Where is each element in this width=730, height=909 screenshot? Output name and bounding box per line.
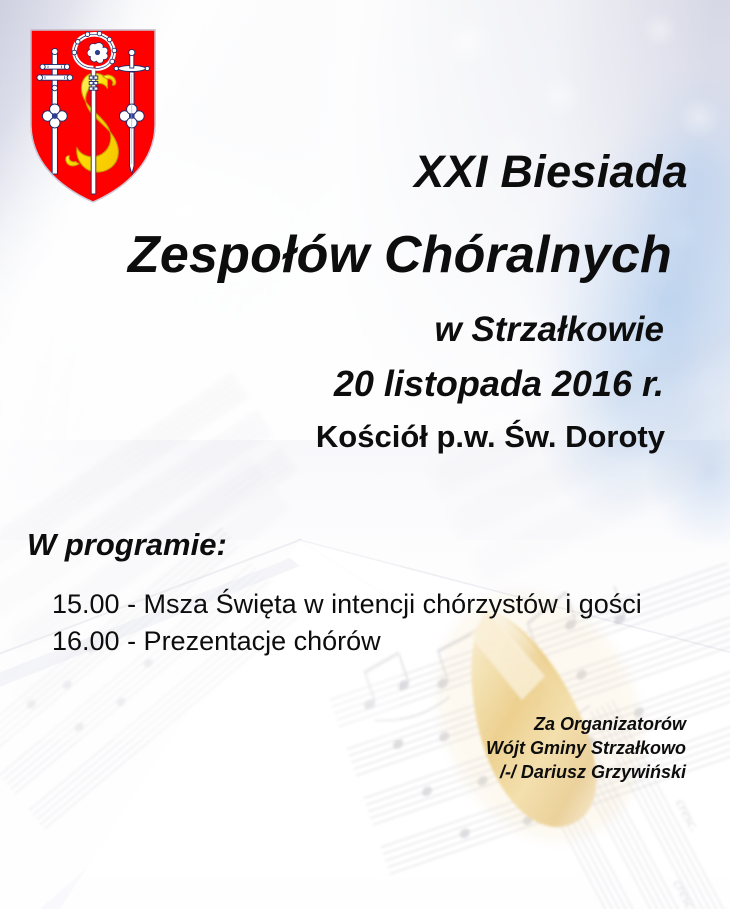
program-item-1: 15.00 - Msza Święta w intencji chórzystó… bbox=[52, 589, 642, 620]
signature-block: Za Organizatorów Wójt Gminy Strzałkowo /… bbox=[0, 712, 686, 784]
program-item-2: 16.00 - Prezentacje chórów bbox=[52, 626, 381, 657]
title-line-1: XXI Biesiada bbox=[0, 146, 688, 198]
location-line: w Strzałkowie bbox=[0, 310, 664, 350]
program-heading: W programie: bbox=[27, 527, 227, 563]
venue-line: Kościół p.w. Św. Doroty bbox=[0, 419, 665, 455]
signature-line-3: /-/ Dariusz Grzywiński bbox=[0, 760, 686, 784]
title-line-2: Zespołów Chóralnych bbox=[0, 225, 672, 285]
poster-canvas: cresc. cresc. cresc. bbox=[0, 0, 730, 909]
date-line: 20 listopada 2016 r. bbox=[0, 363, 664, 405]
signature-line-2: Wójt Gminy Strzałkowo bbox=[0, 736, 686, 760]
signature-line-1: Za Organizatorów bbox=[0, 712, 686, 736]
